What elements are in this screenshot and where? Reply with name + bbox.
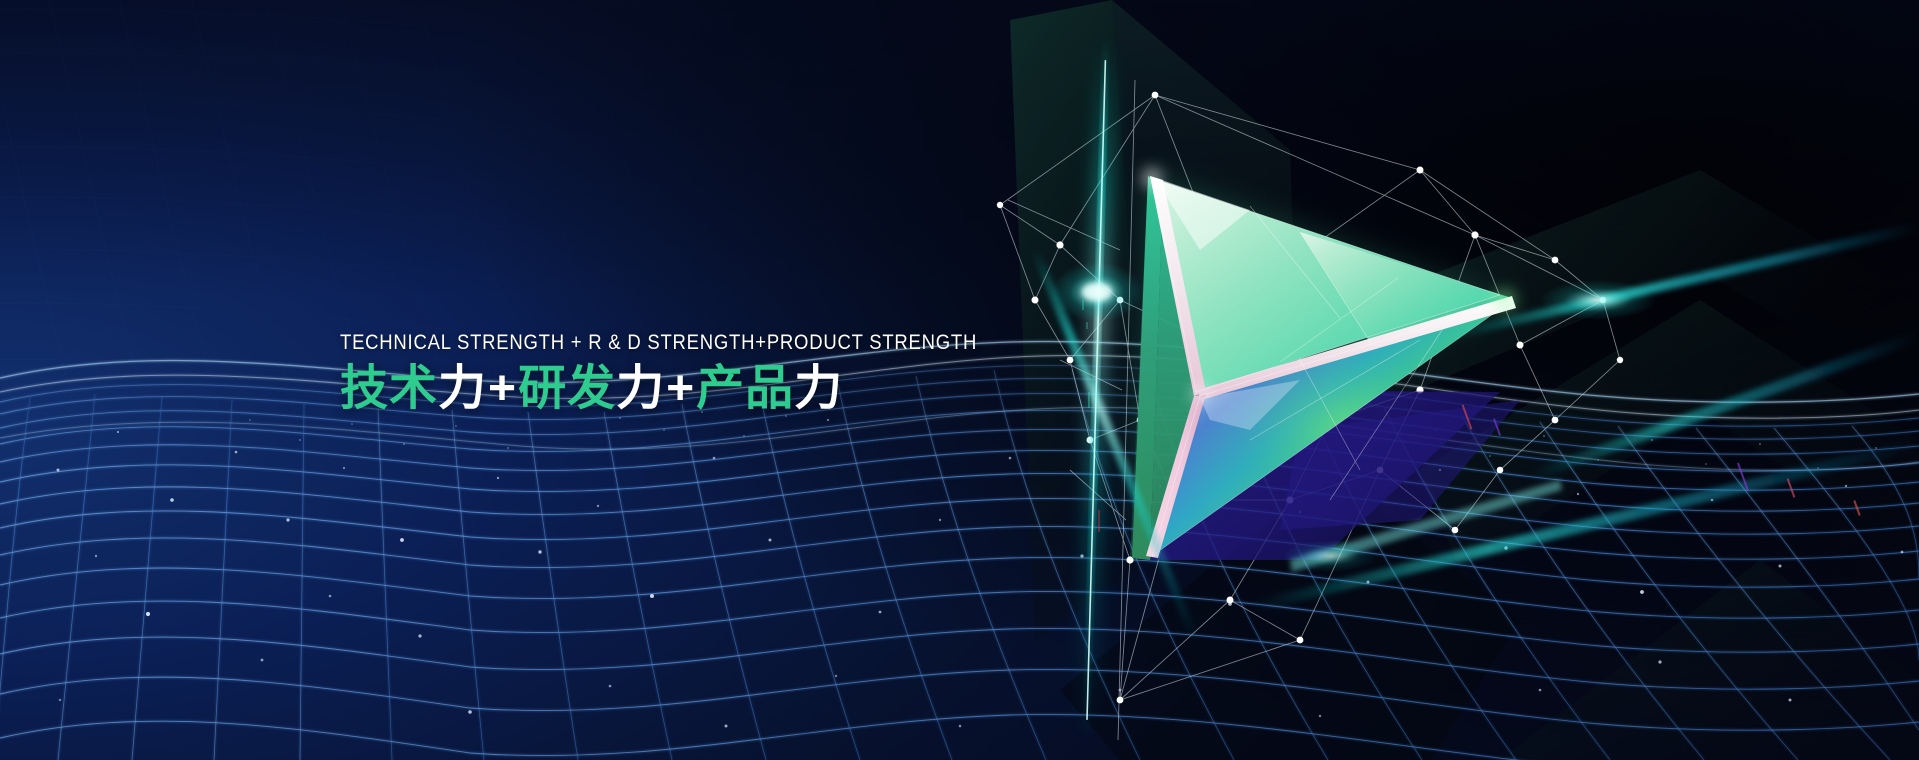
hero-banner: TECHNICAL STRENGTH + R & D STRENGTH+PROD… (0, 0, 1919, 760)
chinese-plus-1: + (487, 362, 518, 415)
chinese-plus-2: + (665, 362, 696, 415)
chinese-seg-product: 产品 (696, 362, 794, 415)
english-tagline: TECHNICAL STRENGTH + R & D STRENGTH+PROD… (340, 332, 942, 354)
headline-block: TECHNICAL STRENGTH + R & D STRENGTH+PROD… (340, 332, 1040, 414)
chinese-seg-li-1: 力 (438, 362, 487, 415)
chinese-seg-li-3: 力 (794, 362, 843, 415)
chinese-seg-rnd: 研发 (518, 362, 616, 415)
chinese-seg-li-2: 力 (616, 362, 665, 415)
chinese-seg-technical: 技术 (340, 362, 438, 415)
top-fade-overlay (0, 0, 1919, 300)
chinese-headline: 技术力+研发力+产品力 (340, 363, 1040, 415)
